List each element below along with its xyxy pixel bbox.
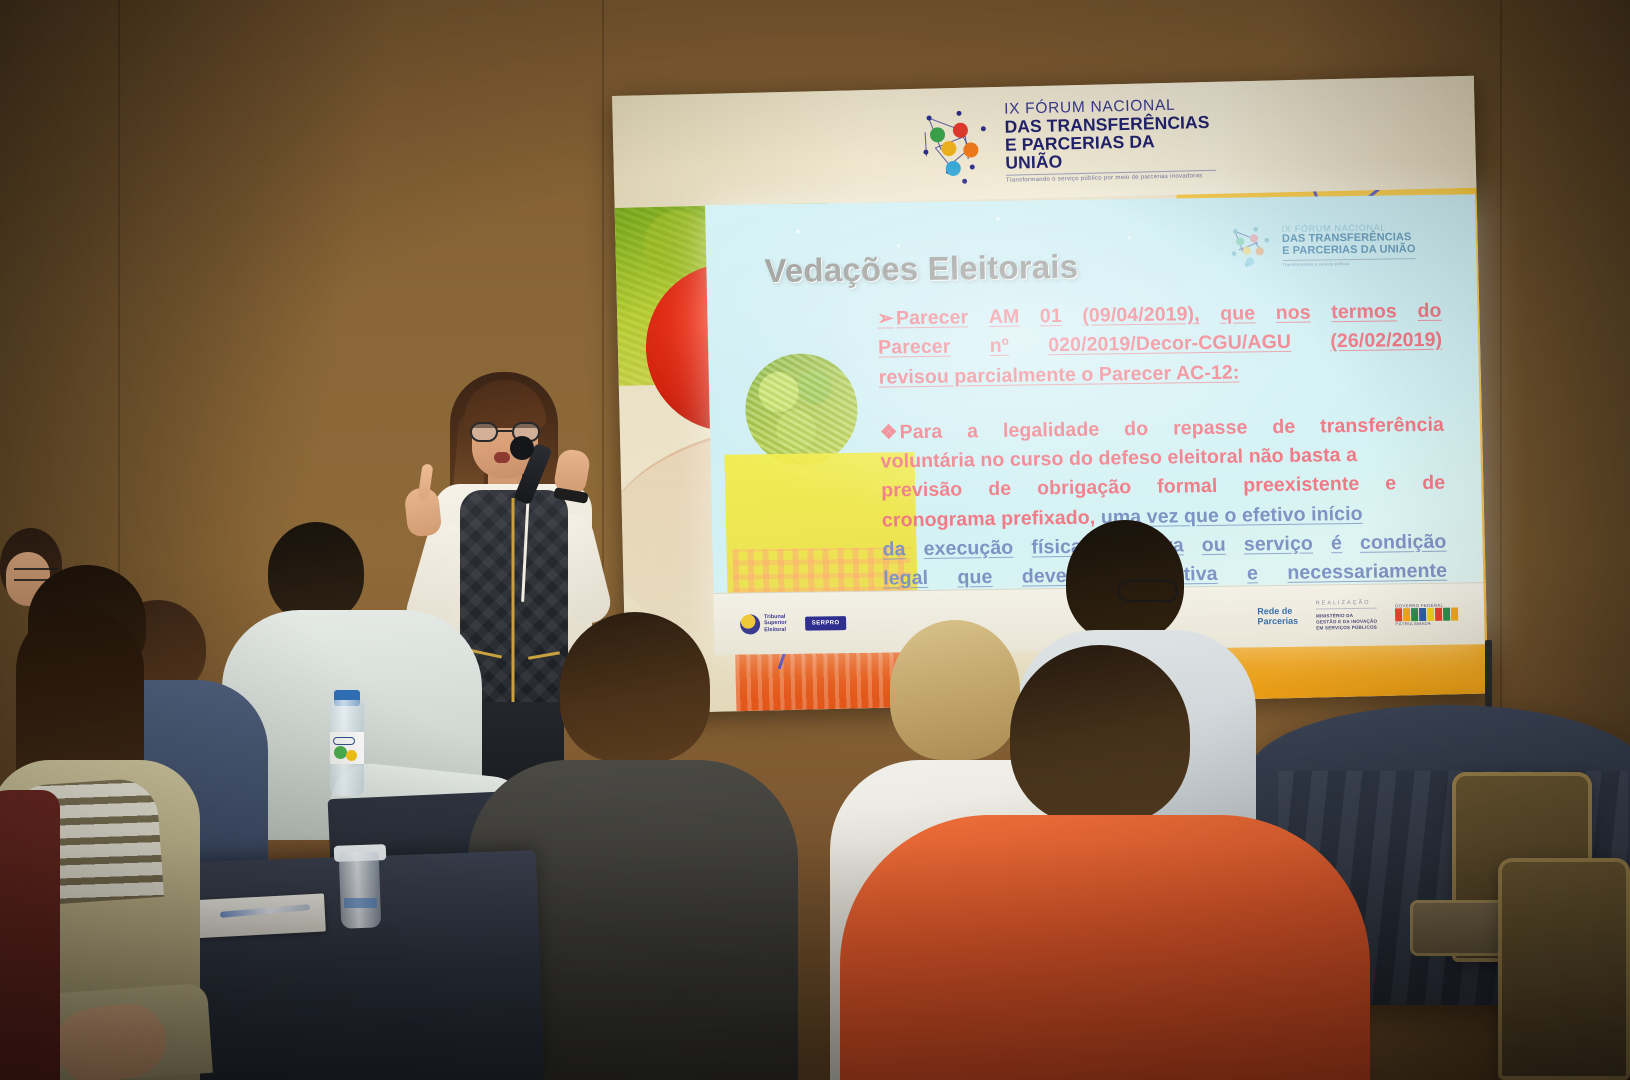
bullet-word: revisou parcialmente o Parecer AC-12: bbox=[878, 358, 1239, 392]
bullet-word: obrigação bbox=[1037, 473, 1132, 504]
slide-logo-text: IX FÓRUM NACIONAL DAS TRANSFERÊNCIAS E P… bbox=[1282, 223, 1416, 267]
bullet-word: de bbox=[1272, 413, 1296, 443]
bullet-word: do bbox=[1124, 415, 1149, 445]
bullet-word: e bbox=[1385, 470, 1397, 499]
bullet-marker-arrow: ➢ bbox=[877, 304, 894, 333]
bullet-word: repasse bbox=[1173, 413, 1248, 443]
event-logo-line3: E PARCERIAS DA UNIÃO bbox=[1005, 131, 1216, 172]
conference-room-photo: IX FÓRUM NACIONAL DAS TRANSFERÊNCIAS E P… bbox=[0, 0, 1630, 1080]
realizacao-label: REALIZAÇÃO bbox=[1316, 599, 1377, 609]
brasil-sub: PÁTRIA AMADA bbox=[1395, 621, 1458, 627]
table-pole bbox=[1485, 640, 1492, 715]
microphone-head bbox=[510, 436, 534, 460]
tse-logo: Tribunal Superior Eleitoral bbox=[740, 613, 787, 634]
brasil-gov-logo: GOVERNO FEDERAL PÁTRIA AMADA bbox=[1395, 603, 1458, 627]
audience-member-torso bbox=[0, 790, 60, 1080]
bullet-word: de bbox=[988, 475, 1012, 505]
audience-eyeglasses bbox=[1118, 580, 1178, 602]
bullet-word: preexistente bbox=[1243, 470, 1360, 501]
bullet-word: de bbox=[1422, 469, 1446, 499]
slide-logo-line3: E PARCERIAS DA UNIÃO bbox=[1282, 244, 1416, 257]
bullet-word: 01 bbox=[1040, 302, 1063, 332]
bullet-word: legalidade bbox=[1003, 415, 1100, 446]
rede-parcerias-logo: Rede de Parcerias bbox=[1257, 606, 1298, 626]
bullet-word: formal bbox=[1157, 472, 1218, 502]
audience-member-head bbox=[890, 620, 1020, 760]
footer-spacer bbox=[865, 617, 1240, 622]
tse-line3: Eleitoral bbox=[764, 627, 787, 634]
bullet-word: nos bbox=[1275, 299, 1311, 329]
tse-line2: Superior bbox=[764, 620, 787, 627]
brazil-network-map-icon bbox=[914, 104, 994, 184]
bullet-word: Parecer bbox=[896, 303, 969, 333]
bullet-word: condição bbox=[1360, 527, 1447, 557]
bullet-word: Parecer bbox=[878, 333, 951, 363]
slide-logo-tagline: Transformando o serviço público bbox=[1282, 258, 1416, 267]
bullet-word: serviço bbox=[1244, 529, 1314, 559]
bullet-word: da bbox=[882, 535, 906, 565]
brazil-network-map-icon bbox=[1226, 223, 1273, 270]
ministerio-logo: MINISTÉRIO DA GESTÃO E DA INOVAÇÃO EM SE… bbox=[1316, 612, 1378, 631]
bullet-word: (26/02/2019) bbox=[1330, 326, 1442, 357]
bottle-label-green-dot bbox=[334, 746, 347, 759]
bullet-word: 020/2019/Decor-CGU/AGU bbox=[1048, 328, 1291, 361]
audience-member-head bbox=[268, 522, 364, 622]
bullet-word: termos bbox=[1331, 297, 1397, 327]
rede-line2: Parcerias bbox=[1257, 616, 1298, 626]
event-logo-text: IX FÓRUM NACIONAL DAS TRANSFERÊNCIAS E P… bbox=[1004, 96, 1216, 184]
bullet-word: a bbox=[967, 417, 979, 446]
tse-seal-icon bbox=[740, 614, 760, 634]
bullet-word: do bbox=[1417, 297, 1442, 327]
bullet-word: que bbox=[1220, 299, 1256, 329]
event-logo: IX FÓRUM NACIONAL DAS TRANSFERÊNCIAS E P… bbox=[914, 96, 1216, 187]
slide-corner-logo: IX FÓRUM NACIONAL DAS TRANSFERÊNCIAS E P… bbox=[1223, 217, 1424, 274]
bullet-word: AM bbox=[988, 303, 1019, 333]
audience-member-head bbox=[1010, 645, 1190, 825]
bullet-word: e bbox=[1247, 559, 1259, 588]
brasil-colorblocks-icon bbox=[1395, 608, 1458, 622]
bullet-word: é bbox=[1331, 529, 1343, 558]
water-bottle-label bbox=[330, 732, 364, 764]
eyeglass-bridge bbox=[498, 430, 512, 432]
eyeglass-lens-left bbox=[470, 422, 498, 442]
audience-member-orange-shirt bbox=[840, 815, 1370, 1080]
bottle-label-ring bbox=[333, 737, 355, 745]
bullet-word: ou bbox=[1201, 531, 1226, 561]
bullet-marker-diamond: ❖ bbox=[880, 418, 898, 447]
banquet-chair bbox=[1498, 858, 1630, 1080]
bullet-word: nº bbox=[989, 332, 1009, 362]
slide-bullet-1: ➢ Parecer AM 01 (09/04/2019), que nos te… bbox=[877, 297, 1443, 393]
bullet-word: previsão bbox=[881, 476, 963, 506]
slide-title: Vedações Eleitorais bbox=[764, 248, 1079, 290]
bullet-word: transferência bbox=[1320, 410, 1444, 441]
paper-cup-band bbox=[344, 898, 377, 908]
ministerio-line3: EM SERVIÇOS PÚBLICOS bbox=[1316, 625, 1377, 632]
audience-member-head bbox=[560, 612, 710, 762]
paper-cup bbox=[339, 851, 382, 928]
gov-badge: SERPRO bbox=[805, 616, 847, 631]
presenter-vest-zipper bbox=[512, 498, 515, 712]
slide-photo-circle bbox=[744, 353, 858, 467]
presenter-mouth bbox=[494, 452, 510, 463]
bullet-word: (09/04/2019), bbox=[1082, 300, 1200, 331]
realizacao-block: REALIZAÇÃO MINISTÉRIO DA GESTÃO E DA INO… bbox=[1316, 599, 1378, 631]
bullet-word: Para bbox=[899, 417, 942, 447]
bottle-label-yellow-dot bbox=[346, 750, 357, 761]
bullet-word: cronograma prefixado, bbox=[882, 503, 1096, 535]
bullet-word: execução bbox=[923, 533, 1013, 563]
